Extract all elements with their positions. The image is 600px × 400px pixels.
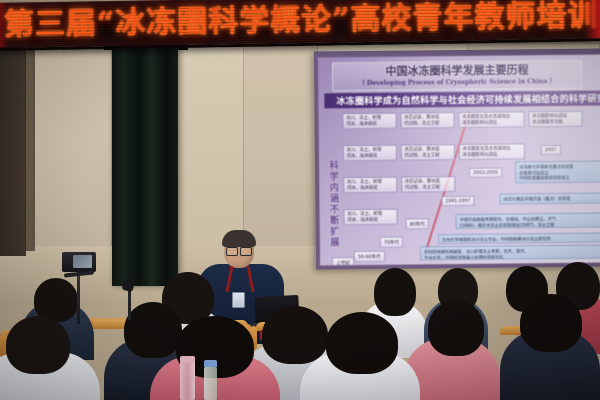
table-cell: 冰冻圈变化及水资源效应 冰冻圈影响与适应 [459, 143, 525, 160]
audience-head [520, 294, 582, 352]
table-row: 冰川、冻土、积雪 河冰、海冰研究 冰芯记录、寒冰现 代过程、冻土工程 冰冻圈变化… [343, 111, 583, 130]
year-label: 2003-2005 [469, 168, 502, 178]
smartphone-screen [73, 255, 92, 268]
table-cell: 冰川、冻土、积雪 河冰、海冰研究 [344, 209, 398, 226]
year-label: 80年代 [406, 218, 429, 229]
lecture-hall-photo: 中国冰冻圈科学发展主要历程 （ Developing Process of Cr… [0, 0, 600, 400]
audience-head [124, 302, 182, 358]
slide-subtitle: （ Developing Process of Cryospheric Scie… [333, 77, 581, 89]
table-cell: 冰芯记录、寒冰现 代过程、冻土工程 [401, 112, 455, 129]
glasses-icon [226, 247, 252, 254]
milestone-note: 兰州大学地理系冰川冻土专业，中科院新建冰川冻土研究所 [438, 232, 600, 244]
projection-screen: 中国冰冻圈科学发展主要历程 （ Developing Process of Cr… [314, 48, 600, 269]
slide-title-band: 中国冰冻圈科学发展主要历程 （ Developing Process of Cr… [332, 60, 582, 92]
milestone-note: 冰冻圈与环境联合重点实验室 北极黄河站成立 中科院青藏高原研究所成立 [515, 160, 600, 183]
year-label: 50-60年代 [354, 251, 385, 262]
year-label: 1991-1997 [441, 196, 474, 206]
slide-statement: 冰冻圈科学成为自然科学与社会经济可持续发展相结合的科学研究领域 [324, 91, 600, 107]
side-curtain [0, 46, 26, 256]
door-frame [25, 46, 35, 251]
water-bottle [204, 366, 217, 400]
audience-head [326, 312, 398, 374]
table-row: 冰川、冻土、积雪 河冰、海冰研究 冰芯记录、寒冰现 代过程、冻土工程 冰冻圈变化… [343, 143, 525, 161]
thermos-bottle [180, 360, 195, 400]
milestone-note: 中科院地理所地貌室、冰川积雪冻土考察，北大、南大、 兰州大学，中国科学院高山冰雪… [420, 244, 600, 260]
table-cell: 冰川、冻土、积雪 河冰、海冰研究 [343, 177, 397, 194]
presentation-slide: 中国冰冻圈科学发展主要历程 （ Developing Process of Cr… [318, 54, 600, 265]
stage-curtain [112, 46, 178, 286]
audience-head [6, 316, 70, 374]
table-cell: 冰川、冻土、积雪 河冰、海冰研究 [343, 145, 397, 162]
audience-head [374, 268, 416, 316]
table-row: 冰川、冻土、积雪 河冰、海冰研究 冰芯记录、寒冰现 代过程、冻土工程 [343, 176, 455, 193]
bottle-cap [180, 356, 195, 363]
bottle-cap [204, 360, 217, 367]
tripod-pole [77, 268, 80, 324]
presenter-hair [222, 230, 256, 247]
table-cell: 冰芯记录、寒冰现 代过程、冻土工程 [401, 176, 455, 193]
audience-head [262, 306, 328, 364]
name-badge [232, 292, 245, 308]
banner-edge-right [584, 0, 600, 39]
milestone-note: 冰芯与寒区环境开放（重点）实验室 [499, 192, 600, 204]
year-label: 2007 [541, 145, 561, 155]
table-cell: 冰芯记录、寒冰现 代过程、冻土工程 [401, 144, 455, 161]
year-label: 上世纪 [332, 257, 354, 265]
banner-text: 第三届“冰冻圈科学概论”高校青年教师培训班暨 [4, 0, 600, 44]
audience-head [428, 300, 484, 356]
year-label: 70年代 [380, 237, 403, 248]
table-cell: 冰川、冻土、积雪 河冰、海冰研究 [343, 113, 397, 130]
slide-statement-band: 冰冻圈科学成为自然科学与社会经济可持续发展相结合的科学研究领域 [324, 90, 600, 108]
table-cell: 冰冻圈影响与适应 冰冻圈服务功能 [529, 111, 583, 128]
milestone-note: 中国开始南极考察研究、长城站、中山站建立，大气 (1980)，格尔木冻土实验观测… [456, 212, 600, 229]
table-row: 冰川、冻土、积雪 河冰、海冰研究 [344, 209, 398, 226]
table-cell: 冰冻圈变化及水资源效应 冰冻圈影响与适应 [459, 111, 525, 128]
slide-vertical-label: 科学内涵不断扩展 [327, 161, 342, 249]
